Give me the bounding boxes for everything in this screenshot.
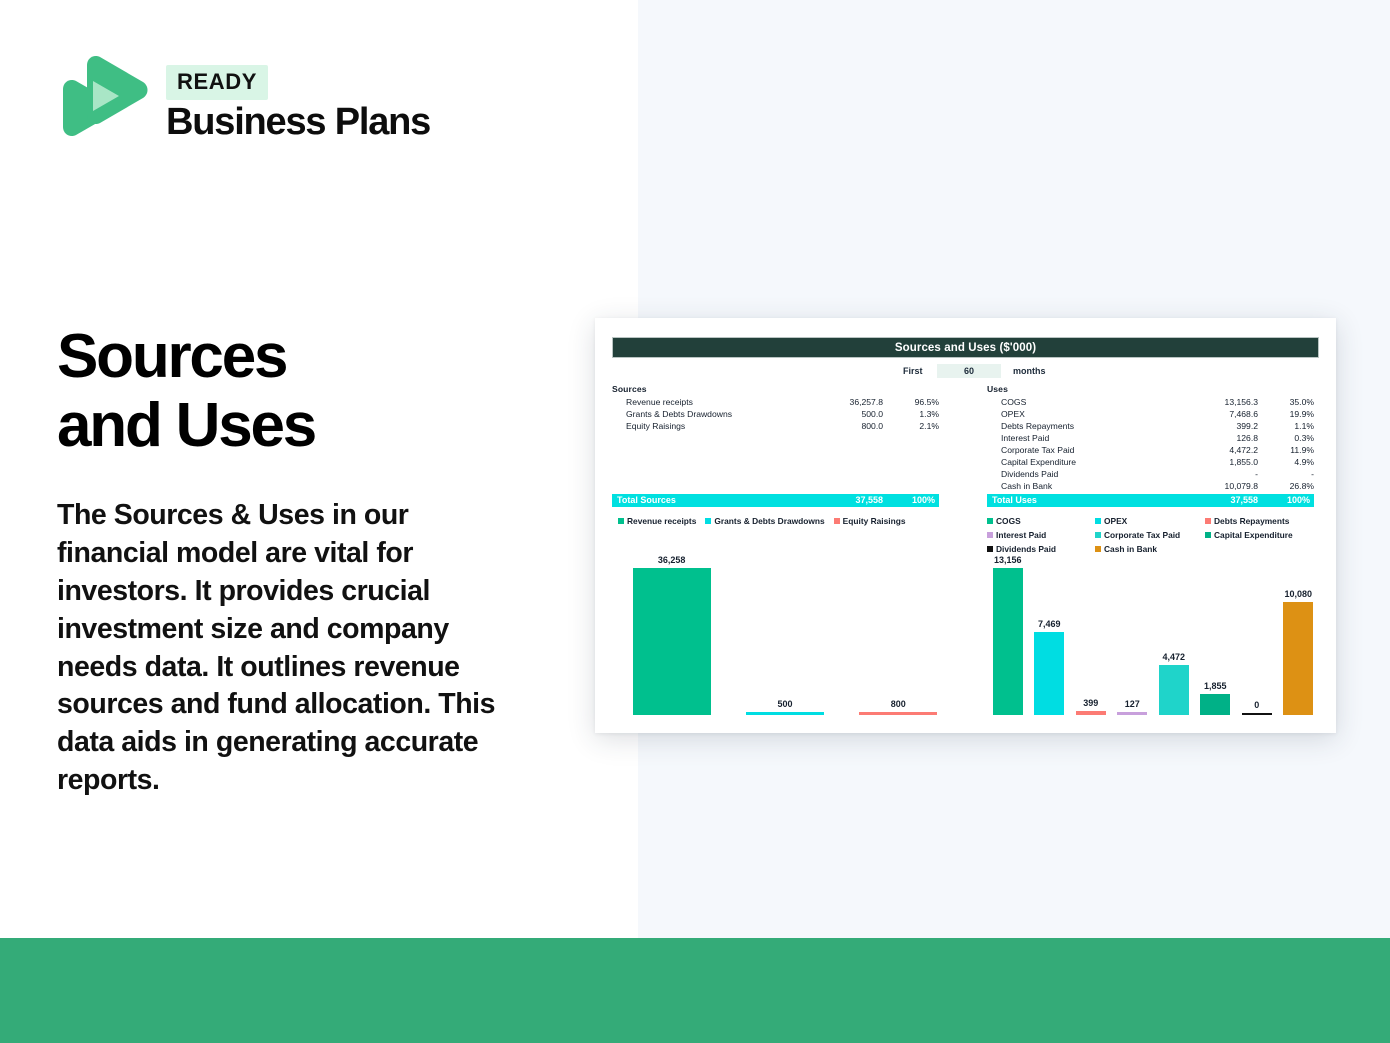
sources-row-pct: 96.5% — [883, 396, 939, 408]
sources-row-value: 800.0 — [805, 420, 883, 432]
uses-total-label: Total Uses — [987, 494, 1180, 507]
sources-row-pct: 1.3% — [883, 408, 939, 420]
sources-total-wrapper: Total Sources 37,558 100% — [612, 492, 939, 507]
sources-table-body: Revenue receipts36,257.896.5%Grants & De… — [612, 396, 939, 432]
bar — [993, 568, 1023, 715]
sources-table-header: Sources — [612, 384, 939, 394]
sources-row-label: Revenue receipts — [612, 396, 805, 408]
uses-row-value: 13,156.3 — [1180, 396, 1258, 408]
bar-value-label: 36,258 — [658, 555, 686, 565]
bar-column: 500 — [746, 550, 824, 715]
bar — [1159, 665, 1189, 715]
bar — [1076, 711, 1106, 715]
uses-row-label: OPEX — [987, 408, 1180, 420]
play-triangle-logo-icon — [57, 55, 150, 152]
uses-row-label: Corporate Tax Paid — [987, 444, 1180, 456]
table-row: Capital Expenditure1,855.04.9% — [987, 456, 1314, 468]
bar-column: 0 — [1242, 550, 1272, 715]
uses-total-value: 37,558 — [1180, 494, 1258, 507]
legend-label: OPEX — [1104, 516, 1127, 526]
bar-column: 10,080 — [1283, 550, 1313, 715]
bar-column: 36,258 — [633, 550, 711, 715]
sources-total-row: Total Sources 37,558 100% — [612, 494, 939, 507]
uses-row-value: 7,468.6 — [1180, 408, 1258, 420]
bar-column: 127 — [1117, 550, 1147, 715]
legend-label: Revenue receipts — [627, 516, 696, 526]
body-paragraph: The Sources & Uses in our financial mode… — [57, 497, 509, 800]
bar-value-label: 7,469 — [1038, 619, 1061, 629]
uses-row-pct: 0.3% — [1258, 432, 1314, 444]
legend-item: COGS — [987, 516, 1095, 526]
uses-row-pct: 1.1% — [1258, 420, 1314, 432]
table-row: Corporate Tax Paid4,472.211.9% — [987, 444, 1314, 456]
table-row: Interest Paid126.80.3% — [987, 432, 1314, 444]
legend-swatch-icon — [834, 518, 840, 524]
table-row: Dividends Paid-- — [987, 468, 1314, 480]
legend-swatch-icon — [987, 532, 993, 538]
bar — [1242, 713, 1272, 715]
legend-item: OPEX — [1095, 516, 1205, 526]
spreadsheet-card: Sources and Uses ($'000) First 60 months… — [595, 318, 1336, 733]
sources-plot-area: 36,258500800 — [615, 550, 955, 715]
table-row: COGS13,156.335.0% — [987, 396, 1314, 408]
period-months-input[interactable]: 60 — [937, 364, 1001, 378]
legend-item: Capital Expenditure — [1205, 530, 1317, 540]
uses-row-value: 4,472.2 — [1180, 444, 1258, 456]
period-suffix-label: months — [1013, 366, 1046, 376]
table-row: Debts Repayments399.21.1% — [987, 420, 1314, 432]
legend-swatch-icon — [1205, 518, 1211, 524]
table-row: Revenue receipts36,257.896.5% — [612, 396, 939, 408]
uses-row-pct: 11.9% — [1258, 444, 1314, 456]
legend-label: COGS — [996, 516, 1021, 526]
sources-table: Sources Revenue receipts36,257.896.5%Gra… — [612, 384, 939, 432]
uses-table-body: COGS13,156.335.0%OPEX7,468.619.9%Debts R… — [987, 396, 1314, 492]
uses-bar-chart: 13,1567,4693991274,4721,855010,080 — [987, 550, 1319, 715]
uses-total-row: Total Uses 37,558 100% — [987, 494, 1314, 507]
sources-total-pct: 100% — [883, 494, 939, 507]
legend-swatch-icon — [987, 518, 993, 524]
uses-chart-legend: COGSOPEXDebts RepaymentsInterest PaidCor… — [987, 516, 1317, 554]
sheet-title-bar: Sources and Uses ($'000) — [612, 337, 1319, 358]
sources-bar-chart: 36,258500800 — [615, 550, 955, 715]
uses-row-pct: 35.0% — [1258, 396, 1314, 408]
legend-item: Revenue receipts — [618, 516, 696, 526]
table-row: OPEX7,468.619.9% — [987, 408, 1314, 420]
uses-row-value: - — [1180, 468, 1258, 480]
sources-chart-legend: Revenue receiptsGrants & Debts Drawdowns… — [618, 516, 958, 526]
bar — [1117, 712, 1147, 715]
legend-swatch-icon — [705, 518, 711, 524]
sources-row-pct: 2.1% — [883, 420, 939, 432]
brand-logo: READY Business Plans — [57, 55, 430, 152]
bar-value-label: 800 — [891, 699, 906, 709]
sources-row-label: Grants & Debts Drawdowns — [612, 408, 805, 420]
legend-item: Corporate Tax Paid — [1095, 530, 1205, 540]
sources-row-value: 36,257.8 — [805, 396, 883, 408]
uses-row-pct: - — [1258, 468, 1314, 480]
bar — [859, 712, 937, 715]
legend-swatch-icon — [1095, 532, 1101, 538]
legend-item: Equity Raisings — [834, 516, 906, 526]
uses-row-value: 399.2 — [1180, 420, 1258, 432]
uses-row-value: 1,855.0 — [1180, 456, 1258, 468]
table-row: Cash in Bank10,079.826.8% — [987, 480, 1314, 492]
sources-row-value: 500.0 — [805, 408, 883, 420]
legend-label: Grants & Debts Drawdowns — [714, 516, 824, 526]
bar-value-label: 500 — [777, 699, 792, 709]
legend-item: Grants & Debts Drawdowns — [705, 516, 824, 526]
uses-row-value: 126.8 — [1180, 432, 1258, 444]
bar-column: 800 — [859, 550, 937, 715]
table-row: Grants & Debts Drawdowns500.01.3% — [612, 408, 939, 420]
uses-row-label: Capital Expenditure — [987, 456, 1180, 468]
bar-column: 1,855 — [1200, 550, 1230, 715]
legend-item: Interest Paid — [987, 530, 1095, 540]
period-prefix-label: First — [903, 366, 923, 376]
uses-row-value: 10,079.8 — [1180, 480, 1258, 492]
bar — [1034, 632, 1064, 715]
uses-total-wrapper: Total Uses 37,558 100% — [987, 492, 1314, 507]
period-selector-row: First 60 months — [612, 363, 1319, 379]
uses-row-label: COGS — [987, 396, 1180, 408]
bar — [633, 568, 711, 715]
bar-value-label: 4,472 — [1162, 652, 1185, 662]
legend-label: Corporate Tax Paid — [1104, 530, 1180, 540]
legend-swatch-icon — [1095, 518, 1101, 524]
bar-value-label: 127 — [1125, 699, 1140, 709]
page-title: Sources and Uses — [57, 322, 577, 461]
bar-value-label: 1,855 — [1204, 681, 1227, 691]
legend-label: Debts Repayments — [1214, 516, 1289, 526]
legend-label: Interest Paid — [996, 530, 1046, 540]
bar — [746, 712, 824, 715]
uses-total-pct: 100% — [1258, 494, 1314, 507]
legend-item: Debts Repayments — [1205, 516, 1317, 526]
brand-name: Business Plans — [166, 103, 430, 143]
sources-total-label: Total Sources — [612, 494, 805, 507]
uses-plot-area: 13,1567,4693991274,4721,855010,080 — [987, 550, 1319, 715]
bar-column: 7,469 — [1034, 550, 1064, 715]
legend-swatch-icon — [1205, 532, 1211, 538]
uses-row-pct: 19.9% — [1258, 408, 1314, 420]
bar-column: 399 — [1076, 550, 1106, 715]
bar — [1200, 694, 1230, 715]
legend-swatch-icon — [618, 518, 624, 524]
uses-row-label: Dividends Paid — [987, 468, 1180, 480]
ready-badge: READY — [166, 65, 268, 100]
bar-value-label: 399 — [1083, 698, 1098, 708]
uses-row-pct: 4.9% — [1258, 456, 1314, 468]
bar — [1283, 602, 1313, 715]
legend-label: Capital Expenditure — [1214, 530, 1293, 540]
uses-row-label: Debts Repayments — [987, 420, 1180, 432]
bar-column: 4,472 — [1159, 550, 1189, 715]
sources-row-label: Equity Raisings — [612, 420, 805, 432]
table-row: Equity Raisings800.02.1% — [612, 420, 939, 432]
bottom-green-band — [0, 938, 1390, 1043]
bar-value-label: 0 — [1254, 700, 1259, 710]
brand-wordmark: READY Business Plans — [166, 65, 430, 143]
uses-row-pct: 26.8% — [1258, 480, 1314, 492]
uses-row-label: Interest Paid — [987, 432, 1180, 444]
bar-value-label: 13,156 — [994, 555, 1022, 565]
sources-total-value: 37,558 — [805, 494, 883, 507]
bar-column: 13,156 — [993, 550, 1023, 715]
uses-table: Uses COGS13,156.335.0%OPEX7,468.619.9%De… — [987, 384, 1314, 492]
uses-row-label: Cash in Bank — [987, 480, 1180, 492]
legend-label: Equity Raisings — [843, 516, 906, 526]
slide-page: READY Business Plans Sources and Uses Th… — [0, 0, 1390, 1043]
uses-table-header: Uses — [987, 384, 1314, 394]
bar-value-label: 10,080 — [1284, 589, 1312, 599]
